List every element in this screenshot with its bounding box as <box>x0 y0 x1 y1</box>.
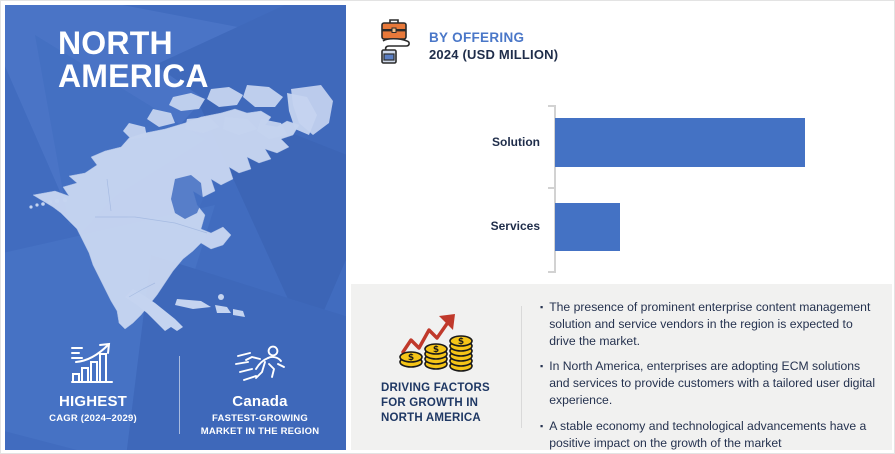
svg-text:$: $ <box>458 337 464 347</box>
running-rocket-person-icon <box>180 340 340 388</box>
list-item: ▪ In North America, enterprises are adop… <box>540 358 876 408</box>
svg-text:$: $ <box>433 345 439 355</box>
list-item-text: In North America, enterprises are adopti… <box>549 358 876 408</box>
badge-title: Canada <box>180 393 340 410</box>
list-item: ▪ A stable economy and technological adv… <box>540 418 876 452</box>
axis-tick <box>548 271 555 273</box>
bar-chart-growth-icon <box>13 340 173 388</box>
category-label-services: Services <box>400 219 540 233</box>
region-title: NORTH AMERICA <box>58 27 209 92</box>
axis-tick <box>548 187 555 189</box>
bar-row-solution: Solution <box>555 118 865 167</box>
driving-factors-panel: $ $ <box>351 284 892 450</box>
chart-title: BY OFFERING <box>429 30 558 45</box>
badge-title: HIGHEST <box>13 393 173 410</box>
category-label-solution: Solution <box>400 135 540 149</box>
axis-tick <box>548 105 555 107</box>
list-item: ▪ The presence of prominent enterprise c… <box>540 299 876 349</box>
chart-subtitle: 2024 (USD MILLION) <box>429 47 558 62</box>
hand-holding-briefcase-icon <box>377 17 417 69</box>
bar-chart: Solution Services <box>461 101 871 277</box>
chart-header: BY OFFERING 2024 (USD MILLION) <box>377 17 558 69</box>
badge-subtitle: CAGR (2024–2029) <box>13 413 173 426</box>
north-america-map-icon <box>25 83 335 333</box>
region-panel: NORTH AMERICA <box>5 5 346 450</box>
bar-row-services: Services <box>555 203 865 251</box>
bullet-marker-icon: ▪ <box>540 299 543 349</box>
bullet-marker-icon: ▪ <box>540 358 543 408</box>
badge-highest-cagr: HIGHEST CAGR (2024–2029) <box>13 340 173 426</box>
driving-factors-list: ▪ The presence of prominent enterprise c… <box>522 284 892 450</box>
coins-growth-arrow-icon: $ $ <box>393 312 479 374</box>
driving-factors-heading-block: $ $ <box>351 284 521 450</box>
chart-panel: BY OFFERING 2024 (USD MILLION) Solution … <box>351 5 892 284</box>
driving-factors-label: DRIVING FACTORS FOR GROWTH IN NORTH AMER… <box>381 381 491 427</box>
badge-strip: HIGHEST CAGR (2024–2029) <box>5 332 346 450</box>
svg-text:$: $ <box>408 353 414 363</box>
list-item-text: The presence of prominent enterprise con… <box>549 299 876 349</box>
badge-canada-fastest-growing: Canada FASTEST-GROWING MARKET IN THE REG… <box>180 340 340 439</box>
list-item-text: A stable economy and technological advan… <box>549 418 876 452</box>
badge-subtitle: FASTEST-GROWING MARKET IN THE REGION <box>180 413 340 439</box>
infographic-root: NORTH AMERICA <box>0 0 895 454</box>
bar-services <box>555 203 620 251</box>
bullet-marker-icon: ▪ <box>540 418 543 452</box>
bar-solution <box>555 118 805 167</box>
